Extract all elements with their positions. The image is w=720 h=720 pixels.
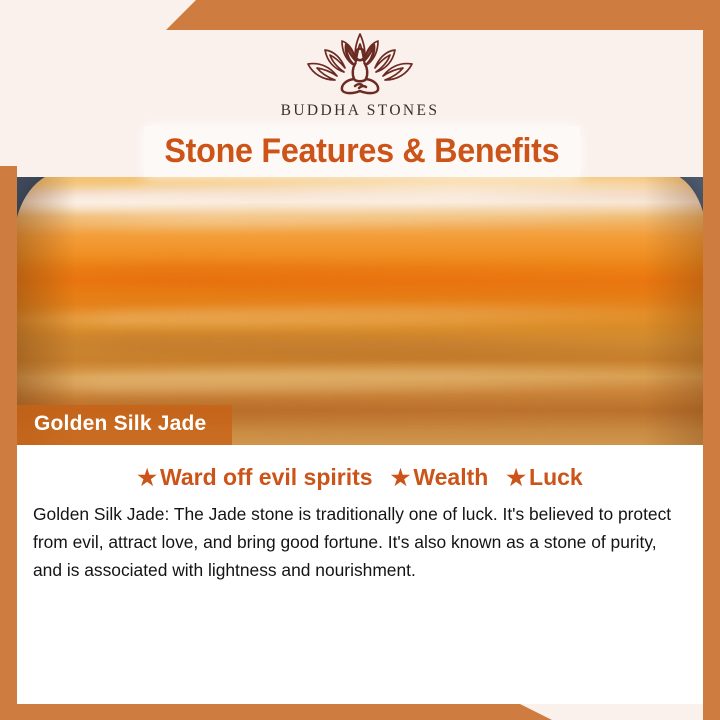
benefit-tag: ★ Ward off evil spirits bbox=[137, 464, 372, 491]
benefits-description: Golden Silk Jade: The Jade stone is trad… bbox=[17, 500, 703, 585]
page-title: Stone Features & Benefits bbox=[165, 132, 560, 171]
lotus-meditation-icon bbox=[286, 26, 434, 98]
product-photo: Golden Silk Jade bbox=[0, 177, 720, 445]
brand-logo: BUDDHA STONES bbox=[0, 26, 720, 120]
product-caption-label: Golden Silk Jade bbox=[34, 412, 206, 435]
bottom-accent-band bbox=[0, 704, 720, 720]
star-icon: ★ bbox=[137, 467, 157, 489]
right-accent-border bbox=[703, 0, 720, 720]
product-caption: Golden Silk Jade bbox=[17, 405, 232, 445]
benefit-tag: ★ Luck bbox=[506, 464, 582, 491]
benefit-tag-list: ★ Ward off evil spirits ★ Wealth ★ Luck bbox=[17, 445, 703, 491]
stone-features-infographic: Golden Silk Jade bbox=[0, 0, 720, 720]
brand-name: BUDDHA STONES bbox=[0, 102, 720, 120]
left-accent-border bbox=[0, 166, 17, 720]
benefit-tag-label: Luck bbox=[529, 464, 583, 491]
star-icon: ★ bbox=[506, 467, 526, 489]
benefit-tag: ★ Wealth bbox=[391, 464, 489, 491]
page-title-band: Stone Features & Benefits bbox=[144, 126, 580, 177]
star-icon: ★ bbox=[391, 467, 411, 489]
benefit-tag-label: Ward off evil spirits bbox=[160, 464, 373, 491]
benefits-section: ★ Ward off evil spirits ★ Wealth ★ Luck … bbox=[17, 445, 703, 704]
benefit-tag-label: Wealth bbox=[413, 464, 488, 491]
